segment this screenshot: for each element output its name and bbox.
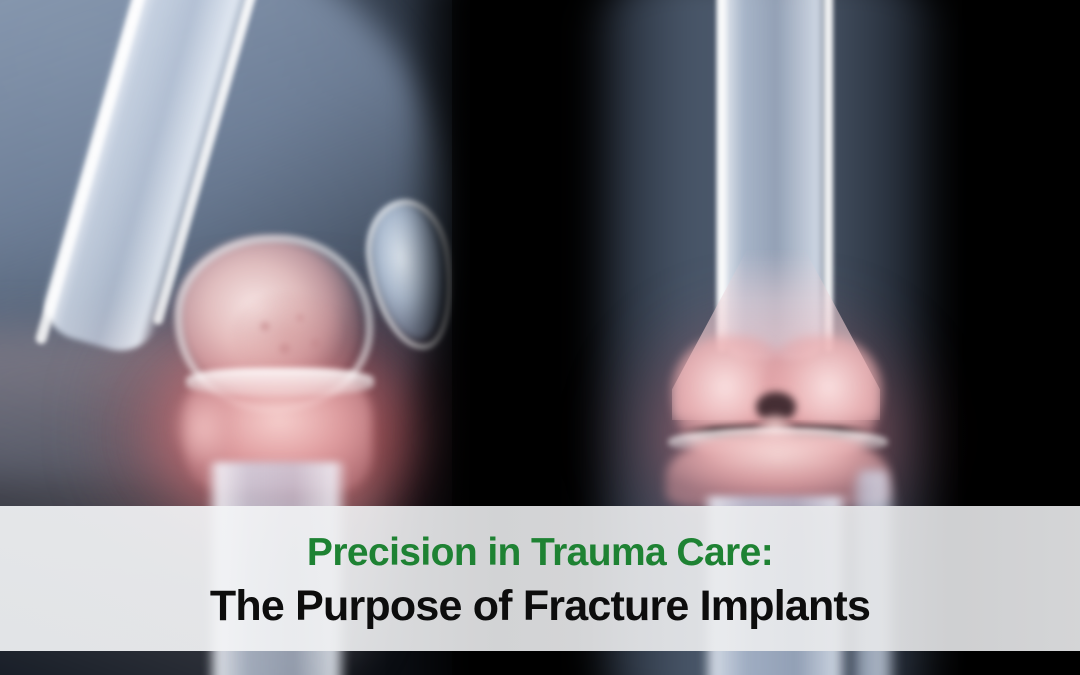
header-graphic: Precision in Trauma Care: The Purpose of… <box>0 0 1080 675</box>
page-title-line-1: Precision in Trauma Care: <box>307 533 773 572</box>
title-overlay-bar: Precision in Trauma Care: The Purpose of… <box>0 506 1080 651</box>
lateral-trabecular-texture <box>232 292 342 378</box>
page-title-line-2: The Purpose of Fracture Implants <box>210 585 870 628</box>
